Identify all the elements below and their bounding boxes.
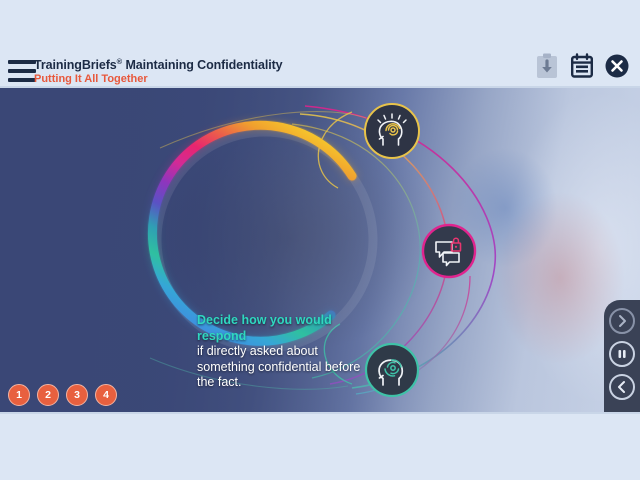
page-title-brand: TrainingBriefs (34, 58, 117, 72)
hamburger-bar-2 (8, 69, 36, 73)
chevron-left-icon (615, 380, 629, 394)
notes-icon[interactable] (569, 52, 595, 80)
course-player: TrainingBriefs® Maintaining Confidential… (0, 0, 640, 480)
page-title-rest: Maintaining Confidentiality (122, 58, 282, 72)
player-control-rail (604, 300, 640, 412)
chevron-right-icon (615, 314, 629, 328)
chapter-pip-2[interactable]: 2 (37, 384, 59, 406)
next-button[interactable] (609, 308, 635, 334)
hamburger-icon[interactable] (8, 60, 36, 82)
close-icon[interactable] (604, 52, 630, 80)
hamburger-bar-3 (8, 78, 36, 82)
chapter-pip-group: 1 2 3 4 (8, 384, 117, 406)
title-block: TrainingBriefs® Maintaining Confidential… (34, 55, 282, 86)
chapter-pip-3[interactable]: 3 (66, 384, 88, 406)
header-icon-group (534, 52, 630, 80)
slide-canvas: Decide how you would respond if directly… (0, 88, 640, 412)
hamburger-bar-1 (8, 60, 36, 64)
statement-body: if directly asked about something confid… (197, 344, 372, 391)
download-icon[interactable] (534, 52, 560, 80)
page-subtitle: Putting It All Together (34, 73, 282, 86)
page-title: TrainingBriefs® Maintaining Confidential… (34, 55, 282, 72)
footer-bar (0, 412, 640, 480)
pause-button[interactable] (609, 341, 635, 367)
pause-icon (615, 347, 629, 361)
previous-button[interactable] (609, 374, 635, 400)
statement-lead: Decide how you would respond (197, 313, 372, 344)
header-bar: TrainingBriefs® Maintaining Confidential… (0, 0, 640, 88)
chapter-pip-1[interactable]: 1 (8, 384, 30, 406)
chapter-pip-4[interactable]: 4 (95, 384, 117, 406)
footer-divider (0, 412, 640, 414)
slide-statement: Decide how you would respond if directly… (197, 313, 372, 391)
